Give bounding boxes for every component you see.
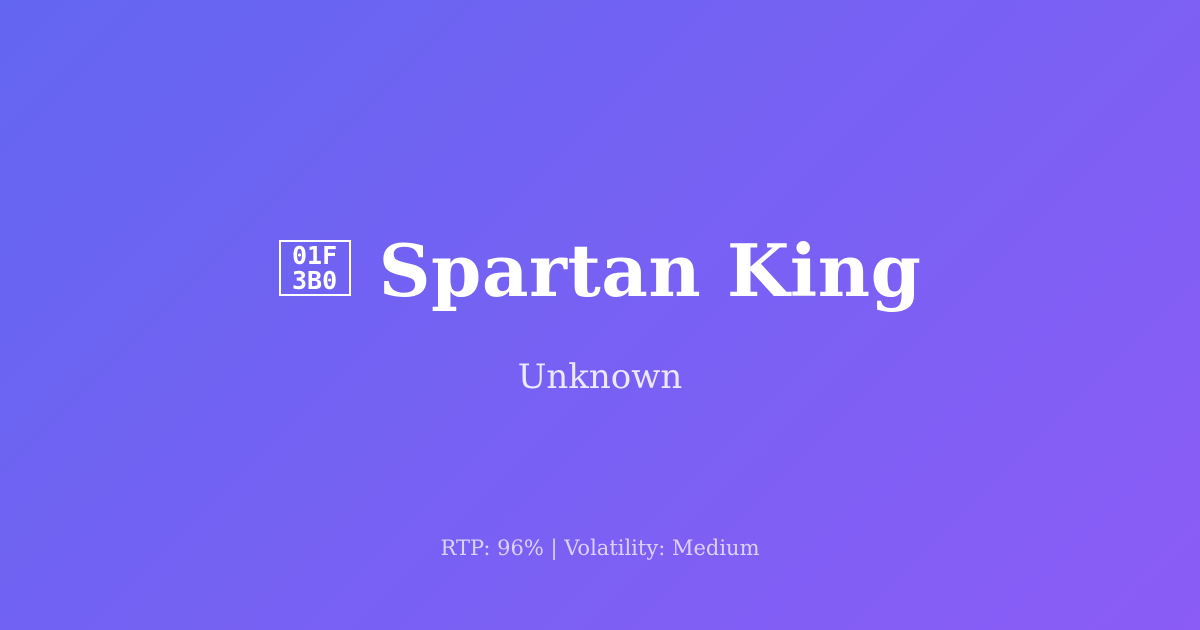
slot-machine-icon-codepoint-bottom: 3B0 [292,268,337,293]
slot-machine-icon: 01F 3B0 [279,240,351,296]
card-subtitle: Unknown [518,357,683,397]
title-row: 01F 3B0 Spartan King [279,233,922,309]
game-stats-footer: RTP: 96% | Volatility: Medium [0,536,1200,560]
page-title: Spartan King [379,233,922,309]
og-preview-card: 01F 3B0 Spartan King Unknown RTP: 96% | … [0,0,1200,630]
slot-machine-icon-codepoint-top: 01F [292,243,337,268]
